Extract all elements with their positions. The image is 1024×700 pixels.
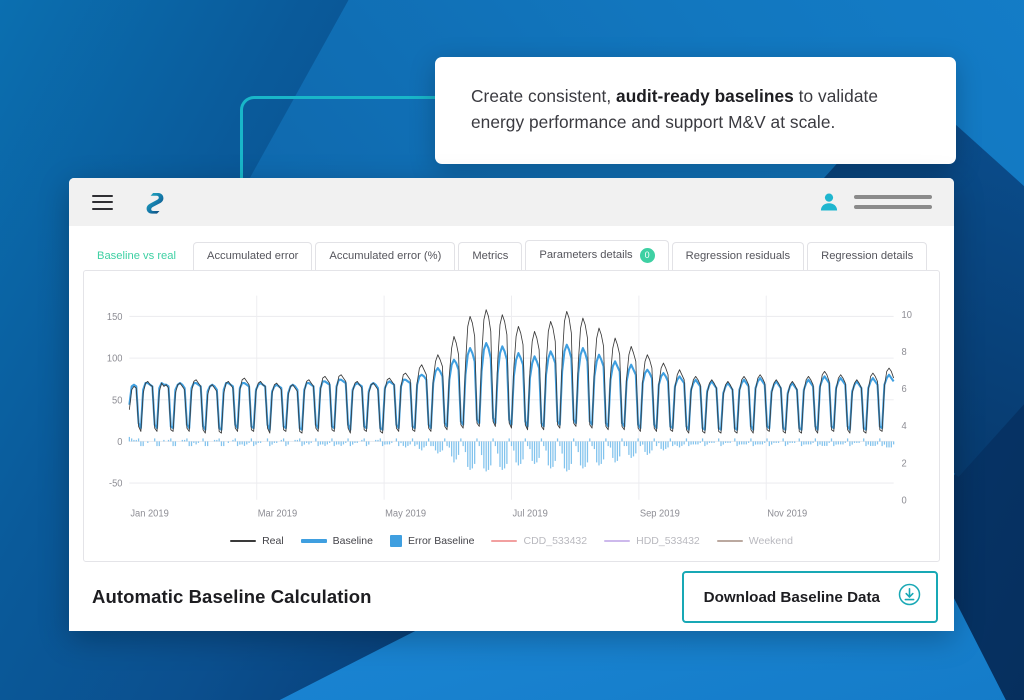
legend-item-baseline[interactable]: Baseline <box>301 535 373 547</box>
legend-line-icon <box>491 540 517 543</box>
tab-label: Accumulated error (%) <box>329 250 441 263</box>
callout-text: Create consistent, audit-ready baselines… <box>471 83 922 136</box>
tab-list: Baseline vs real Accumulated error Accum… <box>83 240 954 270</box>
baseline-vs-real-chart: 150100500-501086420Jan 2019Mar 2019May 2… <box>88 281 935 531</box>
svg-text:100: 100 <box>107 354 123 365</box>
legend-label: Baseline <box>333 535 373 547</box>
callout-card: Create consistent, audit-ready baselines… <box>435 57 956 164</box>
svg-text:Mar 2019: Mar 2019 <box>258 508 297 519</box>
tab-regression-residuals[interactable]: Regression residuals <box>672 242 804 270</box>
svg-text:Sep 2019: Sep 2019 <box>640 508 680 519</box>
callout-text-bold: audit-ready baselines <box>616 86 794 106</box>
tab-label: Metrics <box>472 250 508 263</box>
tab-label: Regression details <box>821 250 913 263</box>
svg-text:0: 0 <box>117 437 122 448</box>
svg-text:50: 50 <box>112 395 122 406</box>
svg-text:8: 8 <box>902 347 907 358</box>
legend-label: Weekend <box>749 535 793 547</box>
legend-item-real[interactable]: Real <box>230 535 284 547</box>
tab-regression-details[interactable]: Regression details <box>807 242 927 270</box>
app-header <box>69 178 954 226</box>
svg-text:Nov 2019: Nov 2019 <box>767 508 807 519</box>
svg-text:0: 0 <box>902 495 907 506</box>
legend-item-weekend[interactable]: Weekend <box>717 535 793 547</box>
tab-label: Parameters details <box>539 249 632 262</box>
user-name-placeholder <box>854 195 932 209</box>
chart-panel: 150100500-501086420Jan 2019Mar 2019May 2… <box>83 270 940 562</box>
legend-item-hdd[interactable]: HDD_533432 <box>604 535 700 547</box>
hamburger-menu-icon[interactable] <box>92 195 113 210</box>
svg-text:May 2019: May 2019 <box>385 508 426 519</box>
tab-label: Accumulated error <box>207 250 298 263</box>
legend-label: Error Baseline <box>408 535 475 547</box>
tab-label: Baseline vs real <box>97 250 176 263</box>
legend-label: HDD_533432 <box>636 535 700 547</box>
app-footer: Automatic Baseline Calculation Download … <box>69 562 954 631</box>
svg-text:Jul 2019: Jul 2019 <box>512 508 547 519</box>
svg-text:10: 10 <box>902 310 912 321</box>
legend-line-icon <box>301 539 327 543</box>
legend-line-icon <box>230 540 256 543</box>
svg-text:4: 4 <box>902 421 908 432</box>
app-window: Baseline vs real Accumulated error Accum… <box>69 178 954 631</box>
legend-line-icon <box>717 540 743 543</box>
download-button-label: Download Baseline Data <box>704 589 880 606</box>
download-circle-icon <box>898 583 921 611</box>
download-baseline-data-button[interactable]: Download Baseline Data <box>682 571 938 623</box>
legend-swatch-icon <box>390 535 402 547</box>
page-title: Automatic Baseline Calculation <box>92 586 372 608</box>
user-avatar-icon[interactable] <box>818 191 840 213</box>
callout-text-before: Create consistent, <box>471 86 616 106</box>
legend-label: CDD_533432 <box>523 535 587 547</box>
chart-area[interactable]: 150100500-501086420Jan 2019Mar 2019May 2… <box>88 281 935 531</box>
svg-text:2: 2 <box>902 458 907 469</box>
tab-metrics[interactable]: Metrics <box>458 242 522 270</box>
tab-label: Regression residuals <box>686 250 790 263</box>
svg-text:6: 6 <box>902 384 907 395</box>
header-right-group <box>818 191 932 213</box>
chart-legend: Real Baseline Error Baseline CDD_533432 … <box>88 531 935 555</box>
legend-item-cdd[interactable]: CDD_533432 <box>491 535 587 547</box>
tab-bar: Baseline vs real Accumulated error Accum… <box>69 226 954 270</box>
brand-s-logo-icon[interactable] <box>140 188 168 216</box>
tab-baseline-vs-real[interactable]: Baseline vs real <box>83 242 190 270</box>
svg-text:150: 150 <box>107 312 123 323</box>
tab-accumulated-error-pct[interactable]: Accumulated error (%) <box>315 242 455 270</box>
legend-item-error-baseline[interactable]: Error Baseline <box>390 535 475 547</box>
tab-accumulated-error[interactable]: Accumulated error <box>193 242 312 270</box>
legend-label: Real <box>262 535 284 547</box>
svg-text:Jan 2019: Jan 2019 <box>130 508 168 519</box>
tab-parameters-details[interactable]: Parameters details 0 <box>525 240 668 270</box>
tab-badge-count: 0 <box>640 248 655 263</box>
page-background: Create consistent, audit-ready baselines… <box>0 0 1024 700</box>
legend-line-icon <box>604 540 630 543</box>
svg-text:-50: -50 <box>109 479 122 490</box>
